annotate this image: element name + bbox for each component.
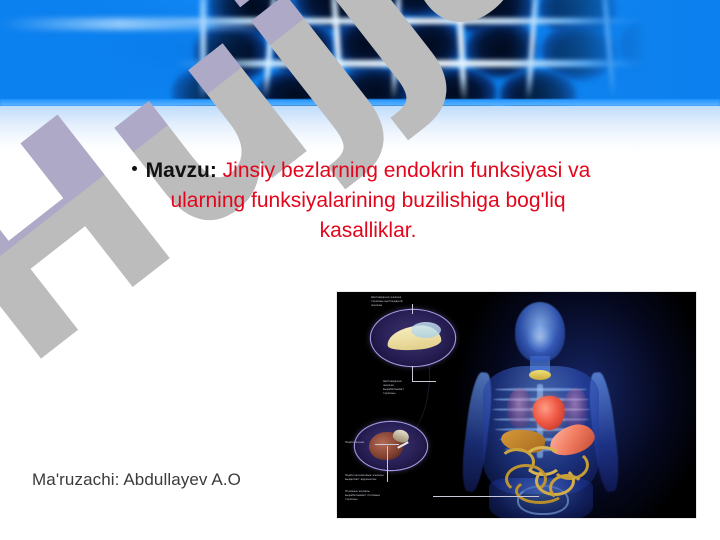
organ-thyroid <box>529 370 551 380</box>
gonads-label: Половые железы вырабатывают половые горм… <box>345 490 457 502</box>
bullet-point-icon <box>132 166 137 171</box>
banner-right-fade <box>510 0 720 106</box>
thyroid-gland-inset <box>371 310 455 366</box>
body-face <box>527 322 553 352</box>
presenter-line: Ma'ruzachi: Abdullayev A.O <box>32 470 241 490</box>
banner-left-fade <box>0 0 250 106</box>
adrenal-gland-inset <box>355 422 427 470</box>
pituitary-label: Щитовидная железа вырабатывает гормоны <box>383 380 443 396</box>
adrenal-side-label: Надпочечник <box>345 441 375 445</box>
slide-title: Mavzu: Jinsiy bezlarning endokrin funksi… <box>120 156 616 246</box>
banner-cellular-graphic <box>0 0 720 106</box>
banner-underglow-gradient <box>0 106 720 152</box>
adrenal-side-leader <box>375 444 399 445</box>
organ-lung-right <box>563 388 587 428</box>
banner-bottom-edge <box>0 99 720 106</box>
banner-light-streak <box>0 18 300 30</box>
presentation-slide: Hujjat24 Hujjat24 Mavzu: Jinsiy bezlarni… <box>0 0 720 540</box>
adrenal-desc-label: Надпочечниковые железы выделяют адренали… <box>345 474 451 482</box>
organ-intestines <box>497 444 595 502</box>
title-label: Mavzu: <box>146 159 217 182</box>
thyroid-label: Щитовидная железа гормоны щитовидной жел… <box>371 296 443 308</box>
endocrine-system-anatomy-diagram: Щитовидная железа гормоны щитовидной жел… <box>337 292 696 518</box>
thyroid-gland-highlight <box>411 322 441 338</box>
organ-lung-left <box>507 388 531 428</box>
title-text: Jinsiy bezlarning endokrin funksiyasi va… <box>170 159 590 242</box>
